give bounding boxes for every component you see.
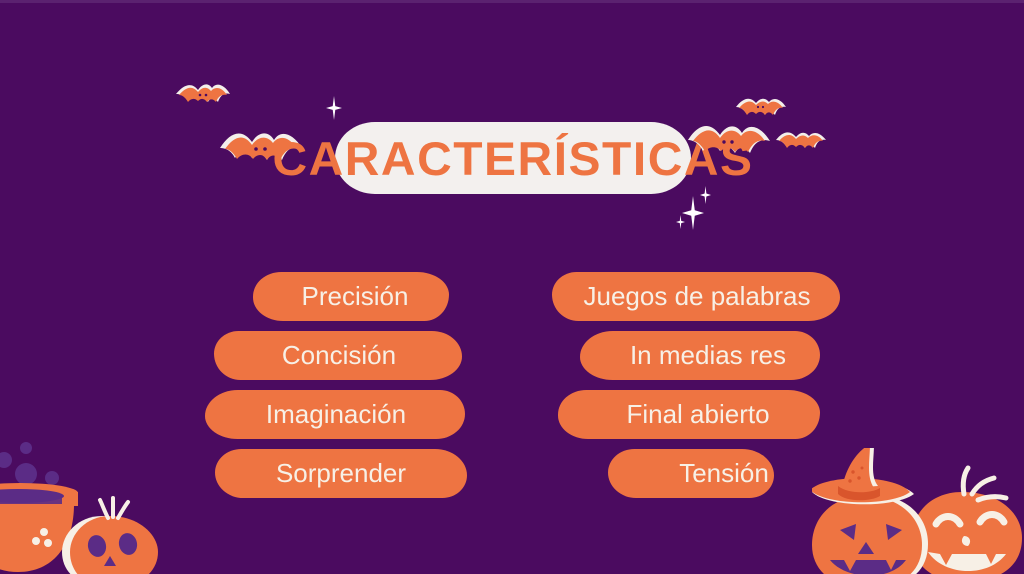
feature-label: Juegos de palabras (570, 281, 825, 312)
bubble-icon (15, 463, 37, 485)
feature-label: In medias res (616, 340, 800, 371)
bats-right-group (686, 96, 846, 211)
pumpkins-right-group (812, 448, 1024, 574)
cauldron-icon (0, 440, 197, 574)
feature-pill[interactable]: Juegos de palabras (552, 272, 842, 321)
feature-label: Tensión (665, 458, 783, 489)
pumpkin-witch-hat-icon (812, 448, 928, 574)
feature-pill[interactable]: Final abierto (552, 390, 842, 439)
page-title: CARACTERÍSTICAS (335, 122, 691, 194)
feature-pill[interactable]: Sorprender (205, 449, 467, 498)
feature-label: Precisión (288, 281, 423, 312)
feature-pill[interactable]: Precisión (205, 272, 467, 321)
top-edge-strip (0, 0, 1024, 3)
features-column-right: Juegos de palabras In medias res Final a… (552, 272, 842, 508)
slide-canvas: CARACTERÍSTICAS (0, 0, 1024, 574)
feature-pill[interactable]: In medias res (552, 331, 842, 380)
sparkle-icon (676, 215, 685, 229)
page-title-text: CARACTERÍSTICAS (331, 122, 694, 194)
feature-label: Final abierto (612, 399, 783, 430)
pumpkin-witch-hat-icon (812, 448, 1024, 574)
pumpkin-icon (62, 498, 158, 574)
feature-pill[interactable]: Tensión (552, 449, 842, 498)
feature-label: Sorprender (262, 458, 420, 489)
features-column-left: Precisión Concisión Imaginación Sorprend… (205, 272, 467, 508)
cauldron-group (0, 440, 197, 574)
bubble-icon (45, 471, 59, 485)
bubble-icon (20, 442, 32, 454)
feature-pill[interactable]: Concisión (205, 331, 467, 380)
bubble-icon (0, 452, 12, 468)
feature-pill[interactable]: Imaginación (205, 390, 467, 439)
pumpkin-icon (912, 468, 1022, 574)
bat-icon (686, 96, 846, 206)
feature-label: Imaginación (252, 399, 420, 430)
feature-label: Concisión (268, 340, 410, 371)
